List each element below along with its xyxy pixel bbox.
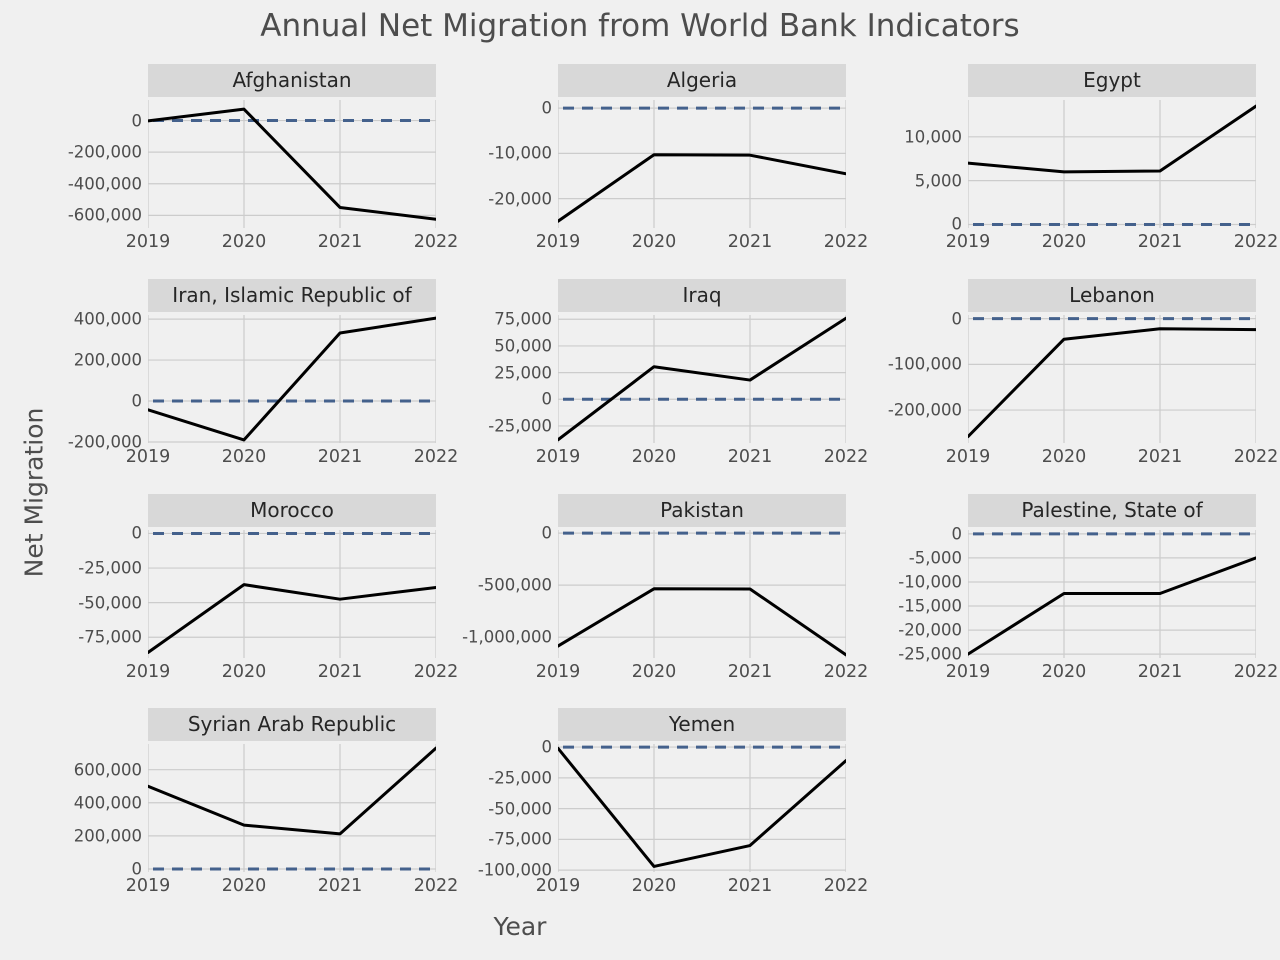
data-series-line — [558, 748, 846, 866]
y-tick-label: -100,000 — [434, 861, 552, 880]
plot-area — [558, 744, 846, 872]
y-tick-label: -50,000 — [434, 799, 552, 818]
subplot-title: Yemen — [558, 708, 846, 741]
x-tick-label: 2022 — [824, 876, 869, 896]
x-tick-label: 2021 — [728, 876, 773, 896]
figure-canvas: Annual Net Migration from World Bank Ind… — [0, 0, 1280, 960]
x-tick-label: 2020 — [632, 876, 677, 896]
y-tick-label: -25,000 — [434, 768, 552, 787]
y-tick-label: -75,000 — [434, 830, 552, 849]
x-tick-label: 2019 — [536, 876, 581, 896]
y-tick-label: 0 — [434, 738, 552, 757]
subplot-yemen: Yemen0-25,000-50,000-75,000-100,00020192… — [0, 0, 1280, 960]
plot-svg — [558, 744, 846, 872]
